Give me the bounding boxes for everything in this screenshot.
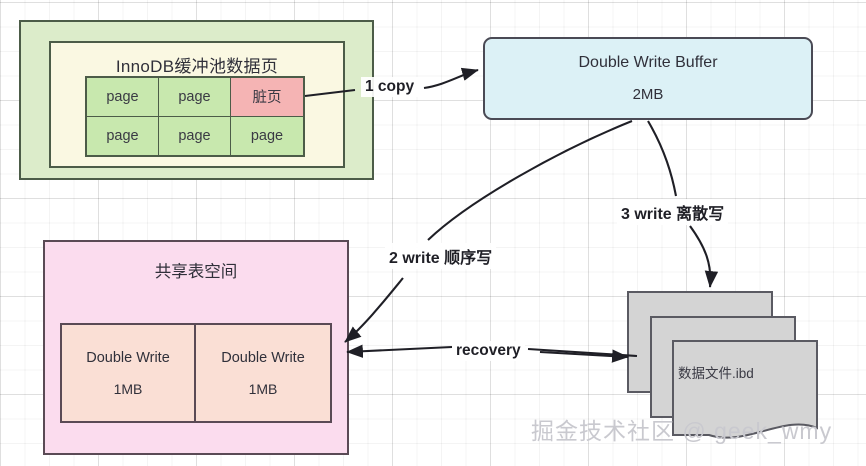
flow-label-sequential-write: 2 write 顺序写 [385,243,496,269]
flow-label-copy: 1 copy [361,77,418,97]
watermark: 掘金技术社区 @ geek_wmy [531,412,832,446]
data-file-label: 数据文件.ibd [678,362,754,382]
connector-overlay [0,0,866,466]
flow-label-scatter-write: 3 write 离散写 [617,199,728,225]
flow-label-recovery: recovery [452,341,525,361]
diagram-canvas: InnoDB缓冲池数据页 page page 脏页 page page page… [0,0,866,466]
